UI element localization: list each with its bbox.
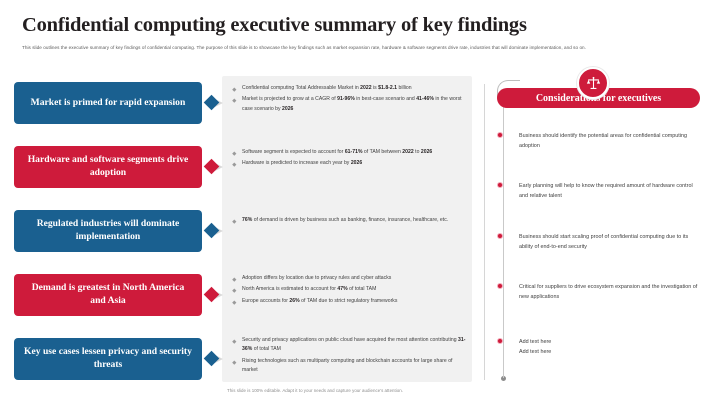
connector-arrow-5 xyxy=(206,352,224,366)
finding-pill-1[interactable]: Market is primed for rapid expansion xyxy=(14,82,202,124)
bullet-item: Security and privacy applications on pub… xyxy=(232,336,468,355)
bullet-item: 76% of demand is driven by business such… xyxy=(232,216,468,225)
panel-divider xyxy=(484,84,485,380)
bullet-item: Rising technologies such as multiparty c… xyxy=(232,357,468,376)
finding-label-1: Market is primed for rapid expansion xyxy=(31,97,186,110)
connector-arrow-4 xyxy=(206,288,224,302)
finding-pill-5[interactable]: Key use cases lessen privacy and securit… xyxy=(14,338,202,380)
finding-pill-3[interactable]: Regulated industries will dominate imple… xyxy=(14,210,202,252)
bullet-item: North America is estimated to account fo… xyxy=(232,285,468,294)
finding-bullets-5: Security and privacy applications on pub… xyxy=(232,336,468,378)
bullet-item: Confidential computing Total Addressable… xyxy=(232,84,468,93)
finding-label-5: Key use cases lessen privacy and securit… xyxy=(23,346,193,371)
bullet-item: Software segment is expected to account … xyxy=(232,148,468,157)
page-subtitle: This slide outlines the executive summar… xyxy=(22,44,690,52)
connector-arrow-2 xyxy=(206,160,224,174)
consideration-text-1: Business should identify the potential a… xyxy=(519,131,702,152)
timeline-rail xyxy=(503,96,504,378)
bullet-item: Market is projected to grow at a CAGR of… xyxy=(232,95,468,114)
consideration-item-1[interactable]: Business should identify the potential a… xyxy=(497,131,702,152)
bullet-item: Hardware is predicted to increase each y… xyxy=(232,159,468,168)
finding-label-3: Regulated industries will dominate imple… xyxy=(23,218,193,243)
finding-bullets-4: Adoption differs by location due to priv… xyxy=(232,274,468,308)
finding-bullets-2: Software segment is expected to account … xyxy=(232,148,468,171)
slide-canvas: Confidential computing executive summary… xyxy=(0,0,720,404)
finding-bullets-1: Confidential computing Total Addressable… xyxy=(232,84,468,116)
finding-pill-2[interactable]: Hardware and software segments drive ado… xyxy=(14,146,202,188)
editable-note: This slide is 100% editable. Adapt it to… xyxy=(227,388,403,393)
scales-of-justice-icon xyxy=(577,67,609,99)
finding-bullets-3: 76% of demand is driven by business such… xyxy=(232,216,468,227)
findings-label-column: Market is primed for rapid expansion Har… xyxy=(14,82,202,402)
connector-arrow-3 xyxy=(206,224,224,238)
finding-pill-4[interactable]: Demand is greatest in North America and … xyxy=(14,274,202,316)
consideration-item-3[interactable]: Business should start scaling proof of c… xyxy=(497,232,702,253)
bullet-item: Adoption differs by location due to priv… xyxy=(232,274,468,283)
bullet-item: Europe accounts for 26% of TAM due to st… xyxy=(232,297,468,306)
finding-label-4: Demand is greatest in North America and … xyxy=(23,282,193,307)
consideration-text-4: Critical for suppliers to drive ecosyste… xyxy=(519,282,702,303)
finding-label-2: Hardware and software segments drive ado… xyxy=(23,154,193,179)
consideration-text-5: Add text here Add text here xyxy=(519,337,702,358)
connector-arrow-1 xyxy=(206,96,224,110)
consideration-item-2[interactable]: Early planning will help to know the req… xyxy=(497,181,702,202)
consideration-text-3: Business should start scaling proof of c… xyxy=(519,232,702,253)
consideration-item-5[interactable]: Add text here Add text here xyxy=(497,337,702,358)
consideration-text-2: Early planning will help to know the req… xyxy=(519,181,702,202)
consideration-item-4[interactable]: Critical for suppliers to drive ecosyste… xyxy=(497,282,702,303)
page-title: Confidential computing executive summary… xyxy=(22,14,682,38)
